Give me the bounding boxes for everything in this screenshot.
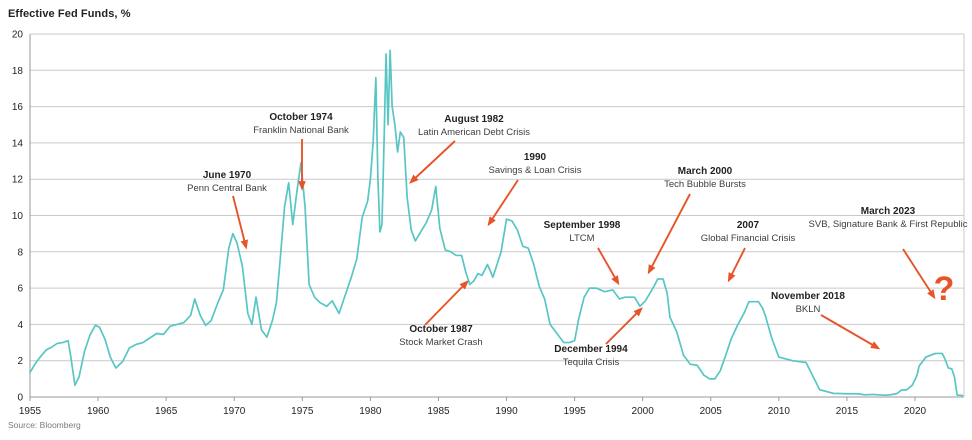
x-tick-label: 1975: [291, 406, 314, 417]
annotation-november-2018: November 2018BKLN: [771, 291, 878, 348]
y-tick-label: 12: [12, 175, 24, 186]
annotation-subtitle: Franklin National Bank: [253, 125, 349, 136]
annotation-subtitle: Stock Market Crash: [399, 337, 482, 348]
y-tick-label: 4: [17, 320, 23, 331]
x-axis-ticks: 1955196019651970197519801985199019952000…: [19, 397, 927, 417]
x-tick-label: 1970: [223, 406, 246, 417]
fed-funds-chart: Effective Fed Funds, % Source: Bloomberg…: [0, 0, 972, 440]
y-tick-label: 18: [12, 66, 24, 77]
annotation-subtitle: BKLN: [796, 304, 821, 315]
annotation-title: November 2018: [771, 291, 845, 302]
annotation-subtitle: LTCM: [569, 233, 594, 244]
annotation-subtitle: Savings & Loan Crisis: [489, 165, 582, 176]
annotation-two-thousand-seven: 2007Global Financial Crisis: [701, 220, 796, 280]
x-tick-label: 1985: [427, 406, 450, 417]
y-tick-label: 2: [17, 356, 23, 367]
y-tick-label: 20: [12, 30, 24, 41]
x-tick-label: 2020: [904, 406, 927, 417]
annotation-subtitle: Tequila Crisis: [563, 357, 620, 368]
annotation-title: August 1982: [444, 114, 504, 125]
x-tick-label: 1990: [495, 406, 518, 417]
annotation-title: March 2000: [678, 166, 733, 177]
x-tick-label: 1995: [563, 406, 586, 417]
x-tick-label: 1980: [359, 406, 382, 417]
chart-canvas: 02468101214161820 1955196019651970197519…: [0, 0, 972, 440]
annotation-arrow: [489, 180, 518, 224]
y-tick-label: 14: [12, 138, 24, 149]
annotation-subtitle: Tech Bubble Bursts: [664, 179, 746, 190]
y-tick-label: 0: [17, 393, 23, 404]
y-tick-label: 6: [17, 284, 23, 295]
annotation-title: September 1998: [544, 220, 621, 231]
annotation-arrow: [411, 141, 455, 182]
y-axis-ticks: 02468101214161820: [12, 30, 24, 404]
annotation-june-1970: June 1970Penn Central Bank: [187, 170, 267, 247]
annotation-title: October 1987: [409, 324, 473, 335]
annotation-arrow: [649, 194, 690, 272]
y-tick-label: 8: [17, 247, 23, 258]
annotation-subtitle: Latin American Debt Crisis: [418, 127, 530, 138]
annotation-october-1974: October 1974Franklin National Bank: [253, 112, 349, 188]
y-tick-label: 16: [12, 102, 24, 113]
annotation-arrow: [903, 249, 934, 297]
y-tick-label: 10: [12, 211, 24, 222]
annotation-nineteen-ninety: 1990Savings & Loan Crisis: [489, 152, 582, 224]
x-tick-label: 1960: [87, 406, 110, 417]
x-tick-label: 2005: [700, 406, 723, 417]
x-tick-label: 1955: [19, 406, 42, 417]
annotation-subtitle: SVB, Signature Bank & First Republic: [809, 219, 968, 230]
gridlines: [30, 34, 964, 397]
annotation-title: March 2023: [861, 206, 916, 217]
annotation-title: 2007: [737, 220, 760, 231]
annotation-title: December 1994: [554, 344, 628, 355]
annotation-subtitle: Global Financial Crisis: [701, 233, 796, 244]
annotation-subtitle: Penn Central Bank: [187, 183, 267, 194]
annotation-arrow: [729, 248, 745, 280]
question-mark-label: ?: [934, 270, 955, 308]
x-tick-label: 2015: [836, 406, 859, 417]
annotation-title: 1990: [524, 152, 547, 163]
annotation-october-1987: October 1987Stock Market Crash: [399, 282, 482, 348]
x-tick-label: 1965: [155, 406, 178, 417]
annotation-march-2000: March 2000Tech Bubble Bursts: [649, 166, 746, 272]
annotation-title: October 1974: [269, 112, 333, 123]
annotation-arrow: [606, 309, 641, 344]
annotation-arrow: [821, 315, 878, 348]
x-tick-label: 2000: [632, 406, 655, 417]
x-tick-label: 2010: [768, 406, 791, 417]
annotation-december-1994: December 1994Tequila Crisis: [554, 309, 641, 368]
annotation-title: June 1970: [203, 170, 252, 181]
annotation-arrow: [598, 248, 618, 283]
